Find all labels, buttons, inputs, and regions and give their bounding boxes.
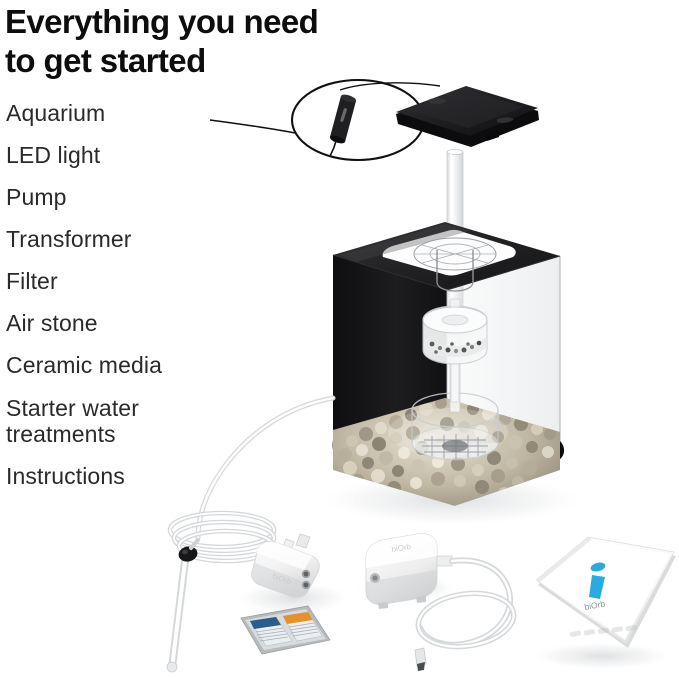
svg-text:biOrb: biOrb bbox=[271, 571, 293, 586]
tank-top-grill bbox=[414, 238, 496, 291]
led-detail-callout bbox=[210, 80, 440, 160]
air-stone bbox=[167, 540, 199, 672]
list-item: Filter bbox=[6, 269, 221, 294]
list-item: Aquarium bbox=[6, 101, 221, 126]
accessory-shadow-booklet bbox=[530, 642, 674, 670]
accessory-shadow-mid bbox=[354, 573, 458, 603]
instruction-booklet: biOrb bbox=[536, 537, 676, 648]
aquarium-tank bbox=[333, 222, 565, 500]
list-item: Transformer bbox=[6, 227, 221, 252]
booklet-logo-icon bbox=[589, 561, 606, 599]
list-item: Instructions bbox=[6, 464, 221, 489]
list-item: LED light bbox=[6, 143, 221, 168]
included-items-list: Aquarium LED light Pump Transformer Filt… bbox=[6, 101, 221, 506]
booklet-brand: biOrb bbox=[584, 598, 606, 612]
air-pump: biOrb bbox=[366, 534, 517, 671]
filter-cartridge bbox=[412, 355, 498, 460]
list-item: Ceramic media bbox=[6, 353, 221, 378]
gravel-substrate bbox=[333, 394, 560, 508]
tank-lid bbox=[396, 86, 539, 147]
ceramic-media bbox=[423, 299, 487, 402]
tank-shadow bbox=[317, 474, 587, 526]
bubble-tube bbox=[447, 149, 463, 355]
transformer: biOrb bbox=[252, 534, 320, 597]
led-light bbox=[329, 93, 357, 156]
product-infographic: Everything you need to get started Aquar… bbox=[0, 0, 679, 678]
page-title: Everything you need to get started bbox=[5, 2, 425, 80]
list-item: Air stone bbox=[6, 311, 221, 336]
list-item: Starter water treatments bbox=[6, 395, 221, 447]
list-item: Pump bbox=[6, 185, 221, 210]
accessory-shadow-left bbox=[235, 581, 351, 615]
svg-text:biOrb: biOrb bbox=[391, 542, 412, 554]
water-treatment-sachets bbox=[241, 606, 330, 654]
